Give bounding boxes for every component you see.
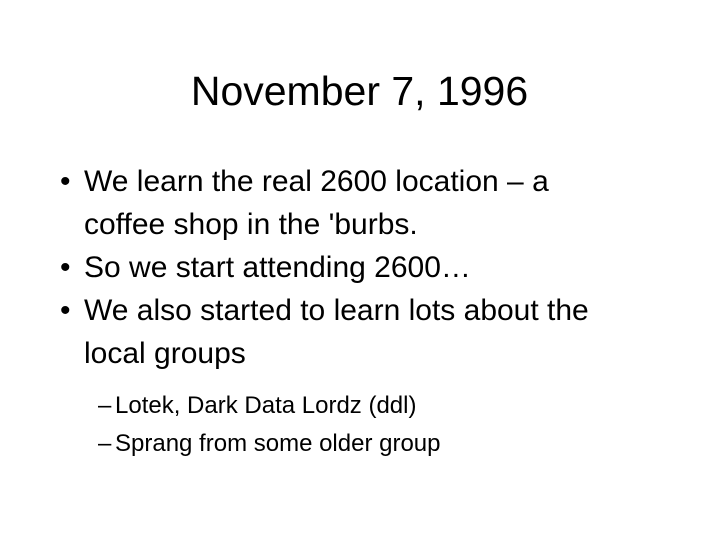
sub-bullet-text: Sprang from some older group bbox=[115, 425, 615, 463]
bullet-list-item: • We also started to learn lots about th… bbox=[0, 289, 719, 375]
sub-bullet-list: – Lotek, Dark Data Lordz (ddl) – Sprang … bbox=[0, 387, 719, 463]
bullet-point-icon: • bbox=[60, 160, 84, 203]
sub-bullet-list-item: – Lotek, Dark Data Lordz (ddl) bbox=[0, 387, 719, 425]
dash-marker-icon: – bbox=[98, 425, 115, 463]
bullet-point-icon: • bbox=[60, 246, 84, 289]
bullet-point-icon: • bbox=[60, 289, 84, 332]
bullet-text: We learn the real 2600 location – a coff… bbox=[84, 160, 631, 246]
presentation-slide: November 7, 1996 • We learn the real 260… bbox=[0, 0, 719, 539]
bullet-text: So we start attending 2600… bbox=[84, 246, 631, 289]
slide-body-content: • We learn the real 2600 location – a co… bbox=[0, 160, 719, 463]
dash-marker-icon: – bbox=[98, 387, 115, 425]
sub-bullet-text: Lotek, Dark Data Lordz (ddl) bbox=[115, 387, 615, 425]
bullet-list-item: • We learn the real 2600 location – a co… bbox=[0, 160, 719, 246]
sub-bullet-list-item: – Sprang from some older group bbox=[0, 425, 719, 463]
bullet-list-item: • So we start attending 2600… bbox=[0, 246, 719, 289]
slide-title: November 7, 1996 bbox=[0, 68, 719, 114]
bullet-text: We also started to learn lots about the … bbox=[84, 289, 631, 375]
